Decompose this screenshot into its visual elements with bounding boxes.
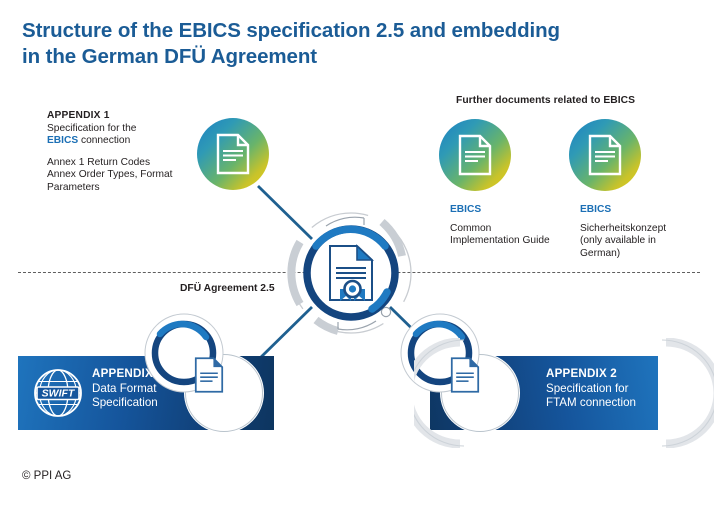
appendix1-line4: Annex Order Types, Format xyxy=(47,169,173,180)
appendix3-line2: Specification xyxy=(92,396,158,409)
document-icon xyxy=(588,134,622,176)
diagram-canvas: Structure of the EBICS specification 2.5… xyxy=(0,0,720,508)
further-documents-heading: Further documents related to EBICS xyxy=(456,95,635,106)
further-document-circle-2[interactable] xyxy=(569,119,641,191)
further-document-caption-2-line2: (only available in xyxy=(580,235,656,246)
appendix2-heading: APPENDIX 2 xyxy=(546,367,617,380)
further-document-caption-1-line2: Implementation Guide xyxy=(450,235,550,246)
left-bracket-decoration xyxy=(414,338,474,448)
appendix1-spacer xyxy=(47,148,207,157)
further-document-badge-1: EBICS xyxy=(450,204,570,217)
swift-globe-icon: SWIFT xyxy=(32,367,84,419)
further-document-caption-2-line1: Sicherheitskonzept xyxy=(580,223,666,234)
document-icon xyxy=(216,133,250,175)
appendix1-line3: Annex 1 Return Codes xyxy=(47,157,150,168)
appendix2-line2: FTAM connection xyxy=(546,396,636,409)
further-document-circle-1[interactable] xyxy=(439,119,511,191)
document-icon xyxy=(194,357,224,394)
swift-logo-text: SWIFT xyxy=(42,388,76,400)
appendix1-document-circle[interactable] xyxy=(197,118,269,190)
dfu-agreement-label: DFÜ Agreement 2.5 xyxy=(180,283,275,294)
copyright-notice: © PPI AG xyxy=(22,470,71,482)
further-document-caption-2: EBICS Sicherheitskonzept (only available… xyxy=(580,204,705,260)
further-document-caption-1: EBICS Common Implementation Guide xyxy=(450,204,570,248)
further-document-badge-2: EBICS xyxy=(580,204,705,217)
appendix2-text-block: APPENDIX 2 Specification for FTAM connec… xyxy=(546,367,636,411)
appendix3-node-circle[interactable] xyxy=(184,353,264,433)
appendix1-line1: Specification for the xyxy=(47,123,136,134)
certificate-document-icon xyxy=(327,244,375,302)
appendix1-line2-rest: connection xyxy=(78,135,130,146)
appendix1-ebics-highlight: EBICS xyxy=(47,135,78,146)
appendix1-heading: APPENDIX 1 xyxy=(47,110,110,121)
further-document-caption-2-line3: German) xyxy=(580,248,620,259)
right-bracket-decoration xyxy=(654,338,714,448)
further-document-caption-1-line1: Common xyxy=(450,223,491,234)
appendix1-text-block: APPENDIX 1 Specification for the EBICS c… xyxy=(47,110,207,195)
appendix1-line5: Parameters xyxy=(47,182,100,193)
appendix2-line1: Specification for xyxy=(546,382,629,395)
central-hub[interactable] xyxy=(286,208,416,338)
document-icon xyxy=(458,134,492,176)
